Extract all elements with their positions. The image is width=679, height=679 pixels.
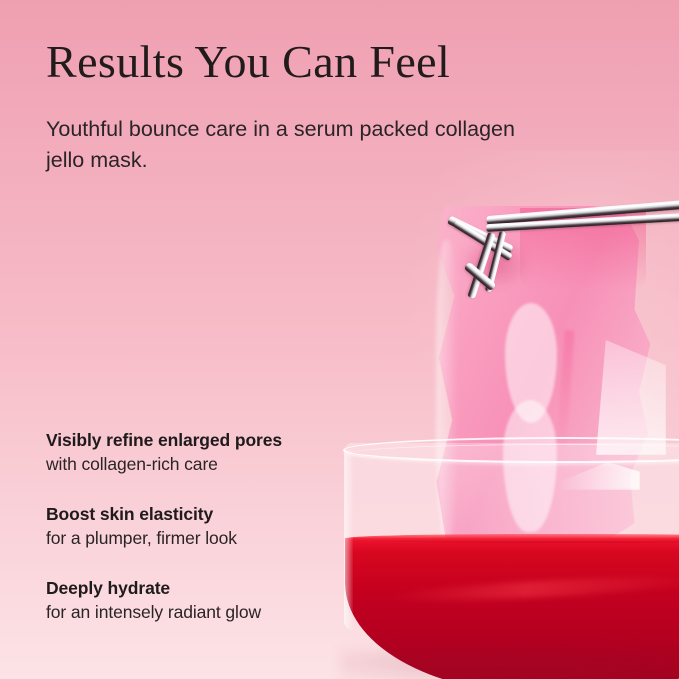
serum-highlight-streak <box>388 573 679 605</box>
collagen-jelly-mask <box>432 206 657 551</box>
benefit-item: Visibly refine enlarged pores with colla… <box>46 428 376 476</box>
tweezer-left-arm <box>447 215 514 253</box>
benefit-title: Boost skin elasticity <box>46 502 376 526</box>
benefits-list: Visibly refine enlarged pores with colla… <box>46 428 376 624</box>
benefit-subtitle: for a plumper, firmer look <box>46 526 376 550</box>
jelly-mask-mouth-opening <box>503 400 557 532</box>
tweezer-right-arm-second <box>485 231 507 293</box>
scene-glow <box>400 150 679 490</box>
benefit-title: Deeply hydrate <box>46 576 376 600</box>
glass-bowl-inner-rim <box>349 444 679 463</box>
tweezer-right-arm <box>467 232 496 299</box>
jelly-mask-right-notch <box>596 340 666 455</box>
page-subtitle: Youthful bounce care in a serum packed c… <box>46 114 546 176</box>
tweezer-tip <box>463 261 496 291</box>
jelly-mask-bottom-flare <box>560 462 640 490</box>
glass-bowl <box>345 443 679 679</box>
benefit-subtitle: with collagen-rich care <box>46 452 376 476</box>
benefit-item: Boost skin elasticity for a plumper, fir… <box>46 502 376 550</box>
product-feature-banner: Results You Can Feel Youthful bounce car… <box>0 0 679 679</box>
jelly-mask-top-shade <box>520 208 646 290</box>
tweezer-shadow <box>460 238 530 288</box>
benefit-item: Deeply hydrate for an intensely radiant … <box>46 576 376 624</box>
red-serum-liquid <box>345 538 679 679</box>
glass-bowl-rim <box>343 437 679 463</box>
benefit-subtitle: for an intensely radiant glow <box>46 600 376 624</box>
tweezer-left-arm-second <box>453 220 513 261</box>
page-title: Results You Can Feel <box>46 38 450 86</box>
tweezer-upper-arm <box>486 200 679 225</box>
tweezer-upper-arm-second <box>486 213 679 232</box>
jelly-mask-eye-opening <box>505 303 557 423</box>
jelly-mask-left-gloss <box>436 240 458 540</box>
serum-surface-line <box>345 534 679 543</box>
benefit-title: Visibly refine enlarged pores <box>46 428 376 452</box>
jelly-mask-edge-highlight <box>555 330 574 460</box>
glass-bowl-shadow <box>340 650 679 679</box>
